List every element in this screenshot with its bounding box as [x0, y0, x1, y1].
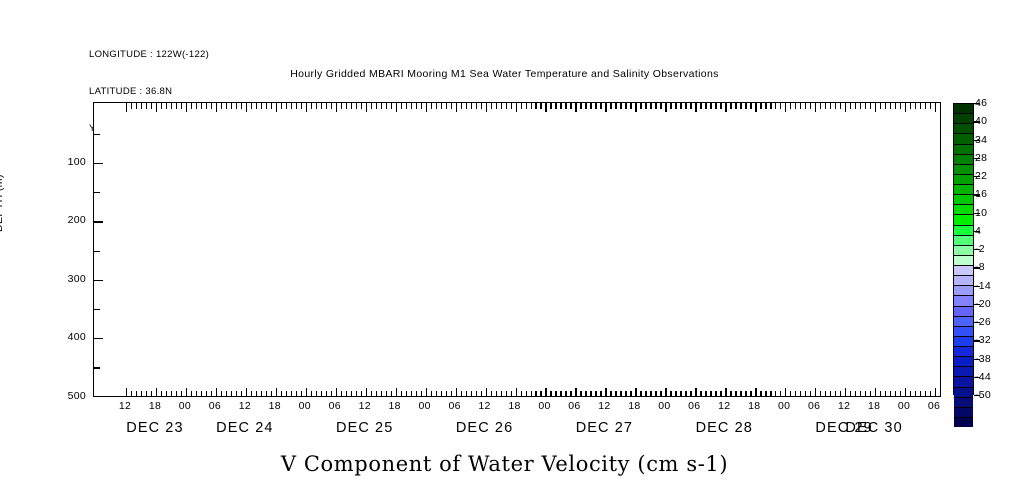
x-tick-mark [940, 391, 941, 397]
x-tick-mark [206, 391, 207, 397]
x-tick-mark [735, 391, 736, 397]
colorbar-tick-mark [974, 322, 980, 323]
x-tick-mark [481, 391, 482, 397]
x-tick-mark [241, 391, 242, 397]
x-tick-mark-top [156, 103, 157, 112]
x-tick-mark-top [935, 103, 936, 112]
x-tick-mark [710, 391, 711, 397]
x-tick-mark [131, 391, 132, 397]
x-tick-mark-top [545, 103, 546, 112]
x-tick-mark [900, 391, 901, 397]
x-tick-mark-top [411, 103, 412, 109]
x-tick-mark [750, 391, 751, 397]
x-tick-mark-top [655, 103, 656, 109]
x-tick-mark-top [875, 103, 876, 112]
x-tick-mark [715, 391, 716, 397]
x-tick-mark [690, 391, 691, 397]
x-tick-mark-top [306, 103, 307, 112]
x-tick-mark [650, 391, 651, 397]
x-tick-mark [885, 391, 886, 397]
x-tick-mark [351, 391, 352, 397]
x-tick-mark-top [825, 103, 826, 109]
x-tick-mark [411, 391, 412, 397]
x-tick-mark-top [605, 103, 606, 112]
x-day-label: DEC 25 [336, 420, 393, 436]
x-tick-mark-top [236, 103, 237, 109]
x-tick-mark [316, 391, 317, 397]
x-tick-mark [511, 391, 512, 397]
x-hour-label: 00 [418, 400, 430, 412]
x-tick-mark-top [730, 103, 731, 109]
x-tick-mark-top [920, 103, 921, 109]
x-tick-mark-top [241, 103, 242, 109]
colorbar-swatch [954, 398, 973, 408]
x-hour-label: 00 [658, 400, 670, 412]
x-tick-mark [855, 391, 856, 397]
x-tick-mark [156, 388, 157, 397]
x-hour-label: 12 [478, 400, 490, 412]
colorbar-tick-mark [974, 340, 980, 341]
x-tick-mark-top [750, 103, 751, 109]
x-tick-mark [585, 391, 586, 397]
x-tick-mark-top [381, 103, 382, 109]
x-hour-label: 06 [209, 400, 221, 412]
x-tick-mark [905, 388, 906, 397]
x-tick-mark-top [276, 103, 277, 112]
x-tick-mark-top [506, 103, 507, 109]
x-day-label: DEC 27 [576, 420, 633, 436]
x-tick-mark-top [765, 103, 766, 109]
x-tick-mark [191, 391, 192, 397]
x-tick-mark [565, 391, 566, 397]
x-tick-mark [341, 391, 342, 397]
x-tick-mark [915, 391, 916, 397]
x-tick-mark-top [620, 103, 621, 109]
x-hour-label: 06 [928, 400, 940, 412]
colorbar-tick-mark [974, 158, 980, 159]
x-tick-mark [386, 391, 387, 397]
colorbar-tick-mark [974, 377, 980, 378]
colorbar-tick-mark [974, 140, 980, 141]
x-tick-mark [805, 391, 806, 397]
colorbar-tick-mark [974, 121, 980, 122]
y-tick-mark [94, 338, 103, 339]
y-tick-mark [94, 251, 100, 252]
x-tick-mark-top [471, 103, 472, 109]
x-day-label: DEC 24 [216, 420, 273, 436]
x-tick-mark-top [261, 103, 262, 109]
x-tick-mark [466, 391, 467, 397]
colorbar-tick-mark [974, 249, 980, 250]
x-hour-label: 18 [389, 400, 401, 412]
x-tick-mark-top [610, 103, 611, 109]
colorbar-tick-mark [974, 395, 980, 396]
x-tick-mark-top [361, 103, 362, 109]
x-tick-mark [301, 391, 302, 397]
x-tick-mark [925, 391, 926, 397]
x-tick-mark-top [356, 103, 357, 109]
y-tick-mark [94, 367, 100, 368]
x-tick-mark [730, 391, 731, 397]
x-tick-mark [196, 391, 197, 397]
x-tick-mark-top [760, 103, 761, 109]
x-tick-mark [800, 391, 801, 397]
x-tick-mark-top [880, 103, 881, 109]
x-tick-mark [545, 388, 546, 397]
x-tick-mark [535, 391, 536, 397]
x-tick-mark-top [660, 103, 661, 109]
x-tick-mark-top [461, 103, 462, 109]
x-tick-mark [720, 391, 721, 397]
x-tick-mark-top [311, 103, 312, 109]
y-tick-mark [94, 221, 103, 222]
x-tick-mark-top [491, 103, 492, 109]
x-hour-label: 06 [568, 400, 580, 412]
x-tick-mark-top [900, 103, 901, 109]
x-tick-mark [366, 388, 367, 397]
colorbar-swatch [954, 408, 973, 418]
x-tick-mark [820, 391, 821, 397]
x-tick-mark-top [830, 103, 831, 109]
x-tick-mark-top [166, 103, 167, 109]
x-tick-mark [755, 388, 756, 397]
x-tick-mark [815, 388, 816, 397]
x-tick-mark [251, 391, 252, 397]
x-tick-mark-top [795, 103, 796, 109]
x-tick-mark [665, 388, 666, 397]
x-tick-mark-top [890, 103, 891, 109]
y-tick-label: 200 [68, 214, 86, 226]
x-tick-mark [810, 391, 811, 397]
x-tick-mark [271, 391, 272, 397]
x-tick-mark [396, 388, 397, 397]
colorbar-tick-mark [974, 213, 980, 214]
x-tick-mark-top [575, 103, 576, 112]
x-tick-mark-top [466, 103, 467, 109]
x-tick-mark [391, 391, 392, 397]
x-tick-mark [336, 388, 337, 397]
x-tick-mark [870, 391, 871, 397]
x-tick-mark [760, 391, 761, 397]
x-tick-mark [446, 391, 447, 397]
x-tick-mark-top [186, 103, 187, 112]
x-tick-mark-top [650, 103, 651, 109]
x-tick-mark [471, 391, 472, 397]
x-tick-mark-top [386, 103, 387, 109]
x-tick-mark [451, 391, 452, 397]
x-tick-mark [501, 391, 502, 397]
x-tick-mark-top [590, 103, 591, 109]
x-tick-mark-top [615, 103, 616, 109]
x-tick-mark-top [770, 103, 771, 109]
x-day-label: DEC 23 [126, 420, 183, 436]
x-tick-mark-top [675, 103, 676, 109]
x-hour-label: 00 [179, 400, 191, 412]
x-tick-mark [201, 391, 202, 397]
x-tick-mark-top [161, 103, 162, 109]
x-tick-mark [835, 391, 836, 397]
x-tick-mark [461, 391, 462, 397]
x-tick-mark [660, 391, 661, 397]
x-hour-label: 12 [598, 400, 610, 412]
x-hour-label: 18 [149, 400, 161, 412]
x-tick-mark-top [665, 103, 666, 112]
x-tick-mark-top [456, 103, 457, 112]
x-tick-mark [590, 391, 591, 397]
x-tick-mark [531, 391, 532, 397]
x-tick-mark [640, 391, 641, 397]
x-tick-mark-top [391, 103, 392, 109]
x-tick-mark [281, 391, 282, 397]
x-tick-mark-top [925, 103, 926, 109]
x-tick-mark-top [526, 103, 527, 109]
x-hour-label: 18 [628, 400, 640, 412]
x-tick-mark-top [216, 103, 217, 112]
x-tick-mark-top [735, 103, 736, 109]
x-tick-mark-top [496, 103, 497, 109]
x-tick-mark-top [940, 103, 941, 109]
x-tick-mark [830, 391, 831, 397]
x-tick-mark [620, 391, 621, 397]
x-tick-mark-top [246, 103, 247, 112]
x-tick-mark-top [426, 103, 427, 112]
x-tick-mark-top [855, 103, 856, 109]
x-tick-mark [496, 391, 497, 397]
x-tick-mark [236, 391, 237, 397]
latitude-text: LATITUDE : 36.8N [89, 86, 209, 98]
x-tick-mark-top [336, 103, 337, 112]
x-tick-mark [226, 391, 227, 397]
x-tick-mark-top [630, 103, 631, 109]
x-tick-mark [176, 391, 177, 397]
x-tick-mark [521, 391, 522, 397]
x-tick-mark [840, 391, 841, 397]
x-tick-mark-top [815, 103, 816, 112]
x-tick-mark-top [351, 103, 352, 109]
x-hour-label: 06 [448, 400, 460, 412]
x-tick-mark-top [221, 103, 222, 109]
x-tick-mark-top [695, 103, 696, 112]
x-tick-mark-top [635, 103, 636, 112]
x-tick-mark-top [870, 103, 871, 109]
x-tick-mark [790, 391, 791, 397]
x-tick-mark [745, 391, 746, 397]
x-tick-mark-top [131, 103, 132, 109]
x-tick-mark [256, 391, 257, 397]
x-tick-mark-top [560, 103, 561, 109]
colorbar-tick-labels: 464034282216104-2-8-14-20-26-32-38-44-50 [953, 103, 1009, 395]
x-tick-mark [655, 391, 656, 397]
x-tick-mark-top [895, 103, 896, 109]
x-tick-mark-top [600, 103, 601, 109]
x-tick-mark [326, 391, 327, 397]
x-tick-mark-top [176, 103, 177, 109]
x-hour-label: 12 [359, 400, 371, 412]
x-tick-mark-top [740, 103, 741, 109]
x-tick-mark-top [476, 103, 477, 109]
x-tick-mark [635, 388, 636, 397]
x-tick-mark-top [910, 103, 911, 109]
x-tick-mark [166, 391, 167, 397]
x-tick-mark-top [406, 103, 407, 109]
colorbar-tick-mark [974, 103, 980, 104]
x-tick-mark [625, 391, 626, 397]
x-hour-label: 12 [838, 400, 850, 412]
x-tick-mark [875, 388, 876, 397]
x-tick-mark-top [446, 103, 447, 109]
x-tick-mark-top [366, 103, 367, 112]
x-tick-mark [171, 391, 172, 397]
x-tick-mark [431, 391, 432, 397]
x-tick-mark [595, 391, 596, 397]
x-tick-mark [765, 391, 766, 397]
x-tick-mark-top [885, 103, 886, 109]
x-tick-mark [261, 391, 262, 397]
x-hour-label: 00 [538, 400, 550, 412]
x-tick-mark-top [281, 103, 282, 109]
x-tick-mark-top [291, 103, 292, 109]
x-tick-mark-top [441, 103, 442, 109]
colorbar-tick-mark [974, 176, 980, 177]
x-tick-mark [605, 388, 606, 397]
x-tick-mark [356, 391, 357, 397]
x-tick-mark [550, 391, 551, 397]
x-tick-mark [371, 391, 372, 397]
x-tick-mark-top [715, 103, 716, 109]
colorbar-swatch [954, 418, 973, 427]
x-tick-mark [630, 391, 631, 397]
x-tick-mark [695, 388, 696, 397]
x-hour-label: 06 [329, 400, 341, 412]
colorbar-tick-mark [974, 359, 980, 360]
x-tick-mark-top [501, 103, 502, 109]
x-hour-label: 06 [808, 400, 820, 412]
x-tick-mark [580, 391, 581, 397]
x-tick-mark-top [371, 103, 372, 109]
x-tick-mark [376, 391, 377, 397]
colorbar-tick-mark [974, 194, 980, 195]
x-tick-mark-top [775, 103, 776, 109]
x-tick-mark-top [481, 103, 482, 109]
x-tick-mark [161, 391, 162, 397]
y-tick-mark [94, 192, 100, 193]
x-tick-mark [296, 391, 297, 397]
x-hour-label: 00 [898, 400, 910, 412]
x-tick-mark-top [680, 103, 681, 109]
x-tick-mark [246, 388, 247, 397]
x-tick-mark [795, 391, 796, 397]
colorbar-tick-mark [974, 267, 980, 268]
x-tick-mark-top [640, 103, 641, 109]
x-hour-label: 06 [688, 400, 700, 412]
x-tick-mark-top [805, 103, 806, 109]
x-tick-mark-top [516, 103, 517, 112]
x-tick-mark [186, 388, 187, 397]
x-tick-mark [600, 391, 601, 397]
x-hour-label: 18 [269, 400, 281, 412]
x-hour-label: 12 [239, 400, 251, 412]
x-tick-mark [845, 388, 846, 397]
x-tick-mark [181, 391, 182, 397]
x-tick-mark [141, 391, 142, 397]
x-tick-mark [825, 391, 826, 397]
x-tick-mark-top [141, 103, 142, 109]
x-tick-mark-top [645, 103, 646, 109]
x-tick-mark-top [720, 103, 721, 109]
x-tick-mark [860, 391, 861, 397]
x-tick-mark [401, 391, 402, 397]
x-tick-mark-top [416, 103, 417, 109]
x-tick-mark [555, 391, 556, 397]
x-tick-mark [920, 391, 921, 397]
x-tick-mark [895, 391, 896, 397]
x-tick-mark [346, 391, 347, 397]
x-tick-mark-top [231, 103, 232, 109]
x-tick-mark [645, 391, 646, 397]
x-tick-mark [266, 391, 267, 397]
x-tick-mark-top [755, 103, 756, 112]
x-tick-mark-top [535, 103, 536, 109]
x-tick-mark-top [296, 103, 297, 109]
colorbar-tick-mark [974, 286, 980, 287]
x-tick-mark-top [565, 103, 566, 109]
x-tick-mark-top [201, 103, 202, 109]
x-tick-mark-top [595, 103, 596, 109]
x-tick-mark-top [191, 103, 192, 109]
x-tick-mark [331, 391, 332, 397]
y-tick-mark [94, 309, 100, 310]
x-hour-label: 12 [718, 400, 730, 412]
x-tick-mark-top [301, 103, 302, 109]
x-tick-mark [675, 391, 676, 397]
x-tick-mark-top [705, 103, 706, 109]
x-tick-mark-top [540, 103, 541, 109]
x-hour-label: 18 [748, 400, 760, 412]
x-tick-mark [426, 388, 427, 397]
x-tick-mark-top [700, 103, 701, 109]
x-day-label: DEC 28 [696, 420, 753, 436]
y-tick-mark [94, 163, 103, 164]
x-tick-mark [865, 391, 866, 397]
x-tick-mark-top [905, 103, 906, 112]
x-tick-mark-top [436, 103, 437, 109]
x-axis-hour-labels: 1218000612180006121800061218000612180006… [0, 400, 1009, 416]
x-tick-mark-top [146, 103, 147, 109]
x-tick-mark-top [376, 103, 377, 109]
x-tick-mark-top [570, 103, 571, 109]
x-tick-mark [441, 391, 442, 397]
x-tick-mark [770, 391, 771, 397]
x-tick-mark-top [181, 103, 182, 109]
x-tick-mark [421, 391, 422, 397]
x-tick-mark-top [341, 103, 342, 109]
x-tick-mark-top [451, 103, 452, 109]
x-tick-mark [705, 391, 706, 397]
x-tick-mark [221, 391, 222, 397]
chart-title: Hourly Gridded MBARI Mooring M1 Sea Wate… [0, 68, 1009, 80]
x-tick-mark [151, 391, 152, 397]
x-tick-mark-top [521, 103, 522, 109]
x-tick-mark [540, 391, 541, 397]
x-tick-mark-top [316, 103, 317, 109]
x-tick-mark [780, 391, 781, 397]
x-tick-mark-top [206, 103, 207, 109]
x-tick-mark [491, 391, 492, 397]
x-tick-mark-top [930, 103, 931, 109]
x-tick-mark [361, 391, 362, 397]
x-tick-mark [685, 391, 686, 397]
x-tick-mark-top [196, 103, 197, 109]
